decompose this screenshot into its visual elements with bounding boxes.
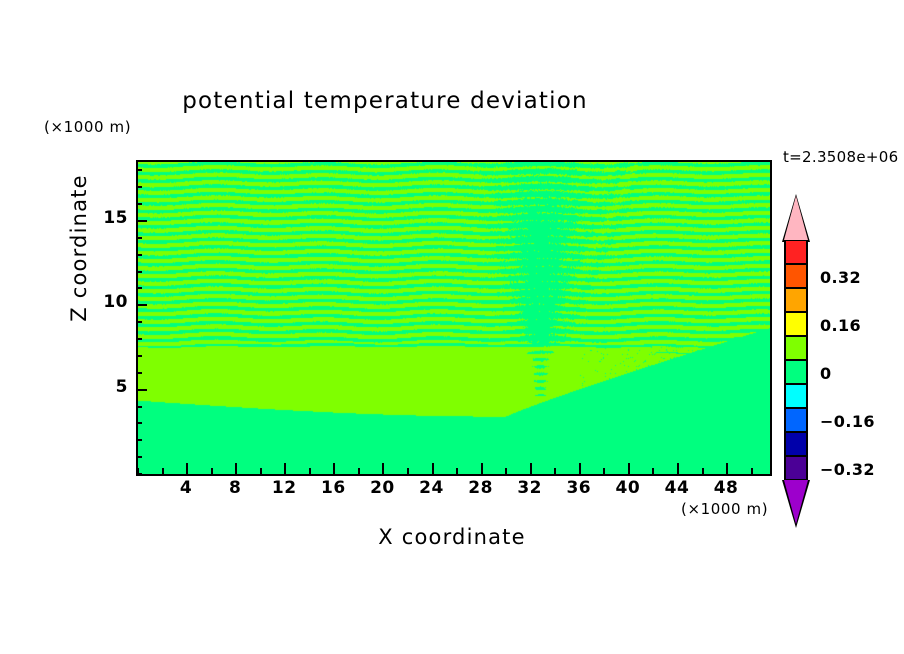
colorbar-band xyxy=(784,432,808,456)
x-axis-units-label: (×1000 m) xyxy=(681,500,768,518)
colorbar-tick-label: 0.16 xyxy=(820,316,861,335)
contour-field-canvas xyxy=(138,162,770,474)
y-axis-tick-labels: 51015 xyxy=(88,160,128,472)
z-axis-units-label: (×1000 m) xyxy=(44,118,131,136)
x-tick-label: 44 xyxy=(657,478,697,498)
x-tick-label: 28 xyxy=(461,478,501,498)
y-tick-label: 15 xyxy=(103,208,128,228)
x-tick-label: 40 xyxy=(608,478,648,498)
colorbar-band xyxy=(784,336,808,360)
x-tick-label: 24 xyxy=(412,478,452,498)
x-axis-title: X coordinate xyxy=(136,525,768,549)
colorbar-band xyxy=(784,360,808,384)
contour-plot-area[interactable] xyxy=(136,160,772,476)
colorbar-band xyxy=(784,240,808,264)
x-tick-label: 48 xyxy=(706,478,746,498)
colorbar-bottom-arrow-cap xyxy=(784,480,808,524)
colorbar-band xyxy=(784,288,808,312)
colorbar-tick-label: 0.32 xyxy=(820,268,861,287)
x-tick-label: 36 xyxy=(559,478,599,498)
colorbar-band xyxy=(784,312,808,336)
colorbar-tick-label: −0.32 xyxy=(820,460,875,479)
page-title: potential temperature deviation xyxy=(0,88,770,114)
x-tick-label: 16 xyxy=(313,478,353,498)
x-tick-label: 32 xyxy=(510,478,550,498)
colorbar-band xyxy=(784,264,808,288)
colorbar-tick-label: 0 xyxy=(820,364,832,383)
colorbar-band xyxy=(784,408,808,432)
colorbar-tick-label: −0.16 xyxy=(820,412,875,431)
colorbar[interactable]: 0.320.160−0.16−0.32 xyxy=(782,196,892,526)
x-tick-label: 12 xyxy=(264,478,304,498)
y-tick-label: 5 xyxy=(116,377,128,397)
colorbar-band xyxy=(784,456,808,480)
timestamp-annotation: t=2.3508e+06 xyxy=(783,148,898,166)
colorbar-band xyxy=(784,384,808,408)
colorbar-band-stack xyxy=(784,240,808,480)
x-tick-label: 8 xyxy=(215,478,255,498)
y-tick-label: 10 xyxy=(103,292,128,312)
x-tick-label: 4 xyxy=(166,478,206,498)
colorbar-top-arrow-cap xyxy=(784,196,808,240)
x-tick-label: 20 xyxy=(362,478,402,498)
